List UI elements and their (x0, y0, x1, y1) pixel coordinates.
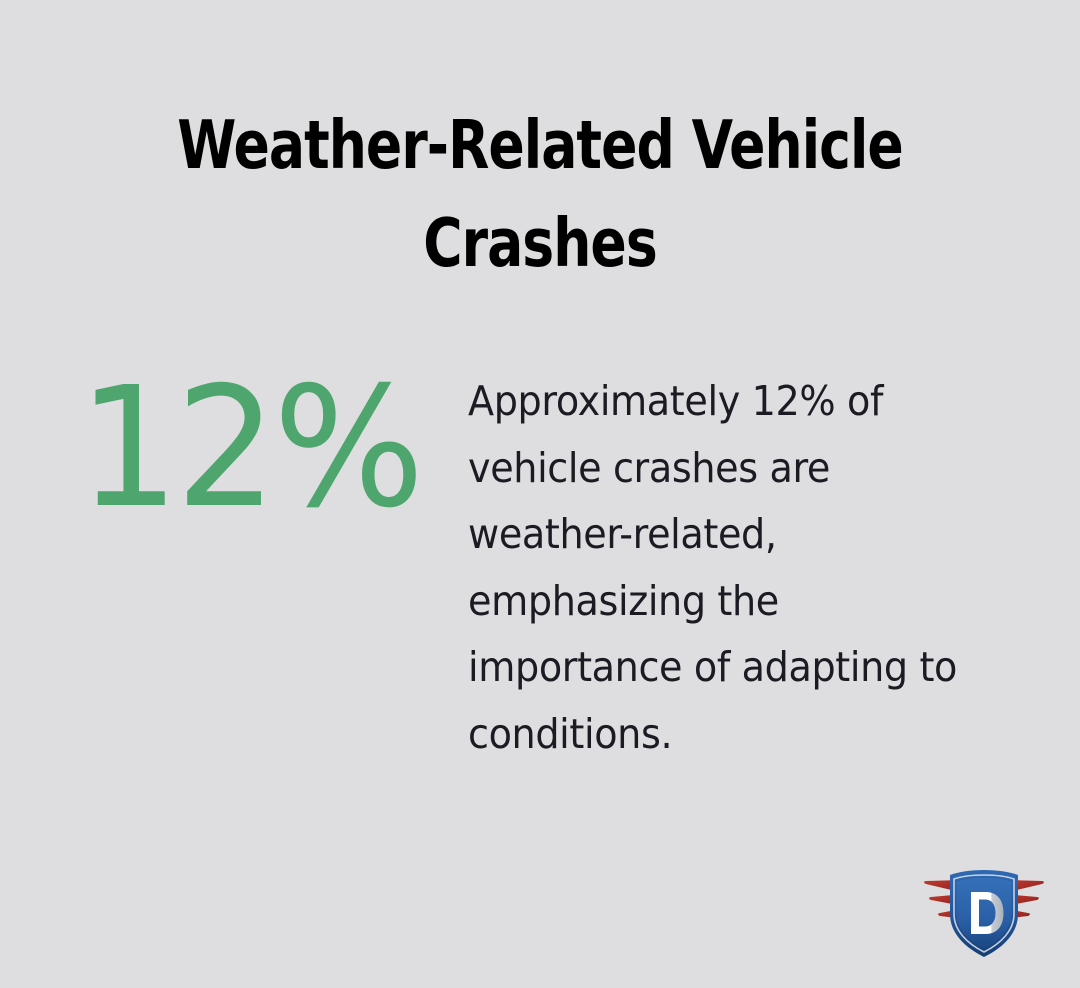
page-title-text: Weather-Related Vehicle Crashes (156, 96, 924, 292)
page-title: Weather-Related Vehicle Crashes (60, 96, 1020, 292)
stat-row: 12% Approximately 12% of vehicle crashes… (78, 368, 1018, 767)
brand-logo (918, 862, 1050, 962)
stat-description: Approximately 12% of vehicle crashes are… (468, 368, 980, 767)
shield-icon (950, 870, 1018, 957)
infographic-canvas: Weather-Related Vehicle Crashes 12% Appr… (0, 0, 1080, 988)
stat-value: 12% (78, 368, 452, 524)
